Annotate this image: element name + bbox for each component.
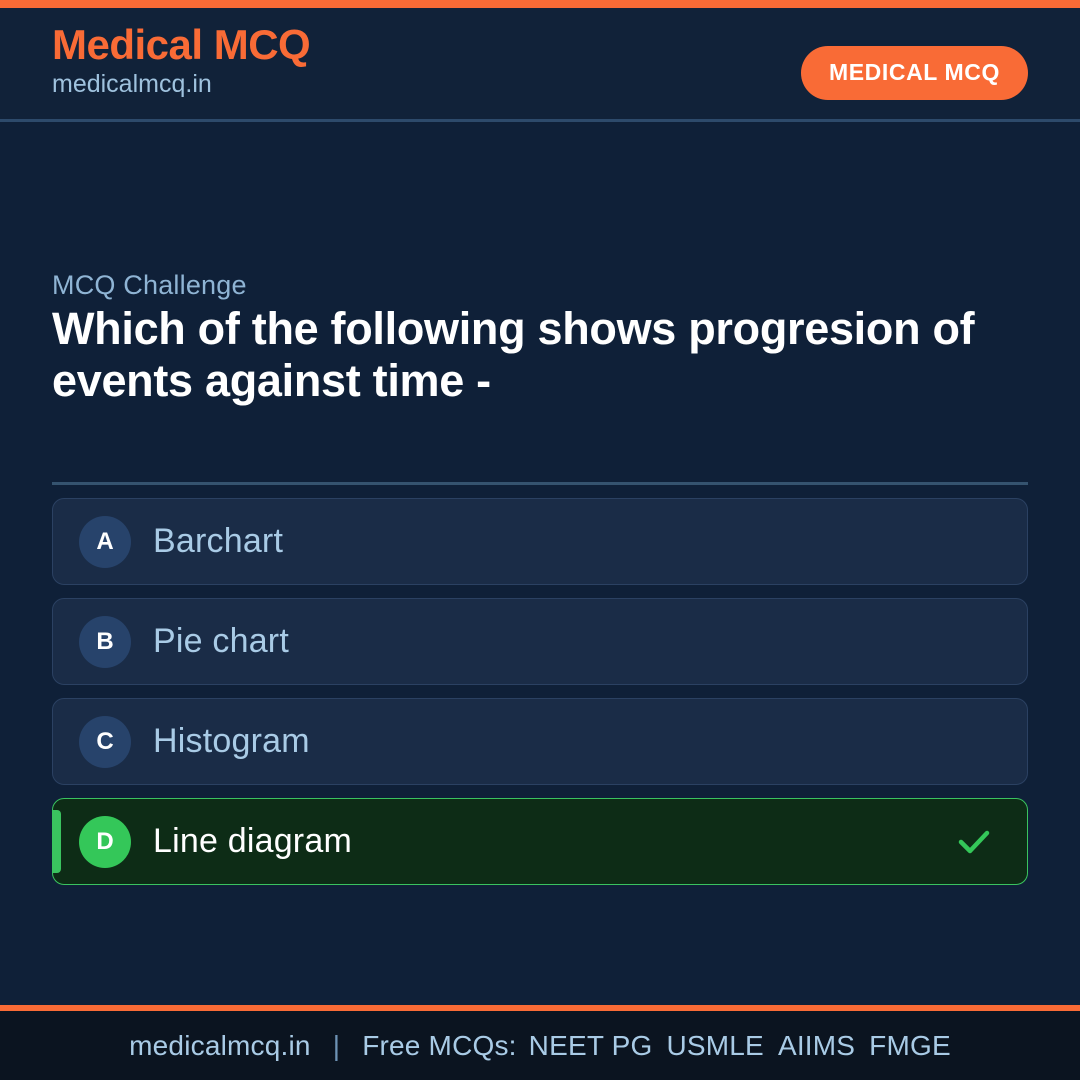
brand-block: Medical MCQ medicalmcq.in: [52, 22, 310, 99]
footer-content: medicalmcq.in | Free MCQs: NEET PG USMLE…: [129, 1030, 951, 1062]
option-a-letter: A: [79, 516, 131, 568]
top-accent-strip: [0, 0, 1080, 8]
question-kicker: MCQ Challenge: [52, 270, 247, 301]
header-badge: MEDICAL MCQ: [801, 46, 1028, 100]
brand-domain: medicalmcq.in: [52, 69, 310, 99]
footer-exam-fmge: FMGE: [869, 1030, 951, 1062]
footer-exam-usmle: USMLE: [666, 1030, 763, 1062]
option-d-letter: D: [79, 816, 131, 868]
question-divider: [52, 482, 1028, 485]
option-b[interactable]: B Pie chart: [52, 598, 1028, 685]
option-d[interactable]: D Line diagram: [52, 798, 1028, 885]
option-a[interactable]: A Barchart: [52, 498, 1028, 585]
option-c-letter: C: [79, 716, 131, 768]
footer-exam-neet-pg: NEET PG: [529, 1030, 653, 1062]
option-c[interactable]: C Histogram: [52, 698, 1028, 785]
footer-exam-aiims: AIIMS: [778, 1030, 855, 1062]
footer-separator: |: [333, 1030, 340, 1062]
question-text: Which of the following shows progresion …: [52, 303, 1032, 407]
brand-title: Medical MCQ: [52, 22, 310, 67]
options-list: A Barchart B Pie chart C Histogram D Lin…: [52, 498, 1028, 898]
footer-label: Free MCQs:: [362, 1030, 516, 1062]
main-content: MCQ Challenge Which of the following sho…: [0, 125, 1080, 1005]
check-icon: [955, 823, 993, 861]
app-footer: medicalmcq.in | Free MCQs: NEET PG USMLE…: [0, 1005, 1080, 1080]
app-header: Medical MCQ medicalmcq.in MEDICAL MCQ: [0, 8, 1080, 122]
footer-site: medicalmcq.in: [129, 1030, 311, 1062]
option-a-label: Barchart: [153, 522, 283, 561]
correct-accent-bar: [53, 810, 61, 873]
option-c-label: Histogram: [153, 722, 310, 761]
option-b-letter: B: [79, 616, 131, 668]
option-b-label: Pie chart: [153, 622, 289, 661]
option-d-label: Line diagram: [153, 822, 352, 861]
